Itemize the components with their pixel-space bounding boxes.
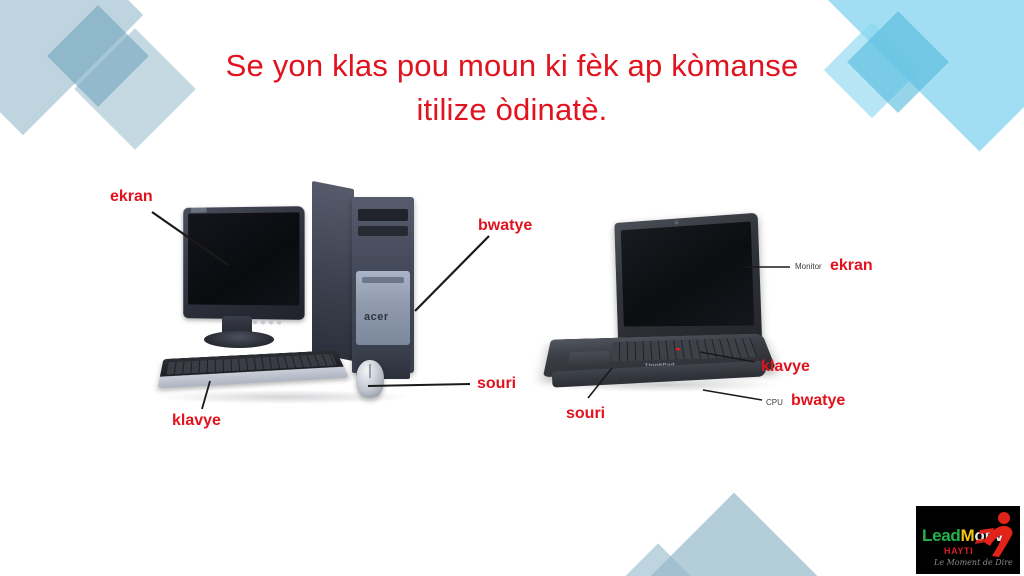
slide-canvas: Se yon klas pou moun ki fèk ap kòmanse i… [0,0,1024,576]
label-laptop-ekran: ekran [830,257,873,275]
laptop-keyboard [612,338,757,361]
label-laptop-bwatye: bwatye [791,392,845,410]
laptop-computer-image: ThinkPad [548,218,780,400]
logo-tagline: Le Moment de Dire [934,558,1013,567]
label-laptop-souri: souri [566,405,605,423]
desktop-tower-drive-bay-2 [358,226,408,236]
laptop-lid [614,213,762,340]
logo-word-m: M [960,526,974,545]
label-desktop-bwatye: bwatye [478,217,532,235]
desktop-tower-slot [362,277,404,283]
desktop-keyboard-keys [167,354,338,375]
runner-icon [974,510,1018,558]
desktop-tower-brand-label: acer [364,311,389,323]
laptop-touchpad [568,351,610,365]
laptop-trackpoint [675,348,680,351]
desktop-monitor-screen [188,212,299,305]
label-laptop-klavye: klavye [761,358,810,376]
desktop-tower-front-panel: acer [356,271,410,345]
diamond-bottom-small [601,543,714,576]
label-laptop-cpu-original: CPU [766,398,783,407]
logo-word-lead: Lead [922,526,960,545]
diamond-bottom-large [641,493,828,576]
leadmotiv-hayti-logo: LeadMotiv HAYTI Le Moment de Dire [916,506,1020,574]
desktop-keyboard [158,350,349,388]
laptop-shadow [550,378,776,392]
logo-subtitle: HAYTI [944,546,973,556]
desktop-computer-image: acer [160,185,450,420]
desktop-monitor-buttons [249,311,295,317]
desktop-tower-drive-bay [358,209,408,221]
label-desktop-ekran: ekran [110,188,153,206]
desktop-monitor [183,206,304,320]
desktop-tower-side-panel [312,181,354,361]
desktop-shadow [160,390,410,404]
label-desktop-souri: souri [477,375,516,393]
desktop-monitor-base [204,331,274,348]
laptop-screen [621,222,755,327]
label-laptop-monitor-original: Monitor [795,262,822,271]
desktop-tower: acer [352,197,414,373]
desktop-monitor-brand-mark [191,208,207,213]
label-desktop-klavye: klavye [172,412,221,430]
laptop-webcam [674,220,678,224]
page-title: Se yon klas pou moun ki fèk ap kòmanse i… [120,44,904,132]
